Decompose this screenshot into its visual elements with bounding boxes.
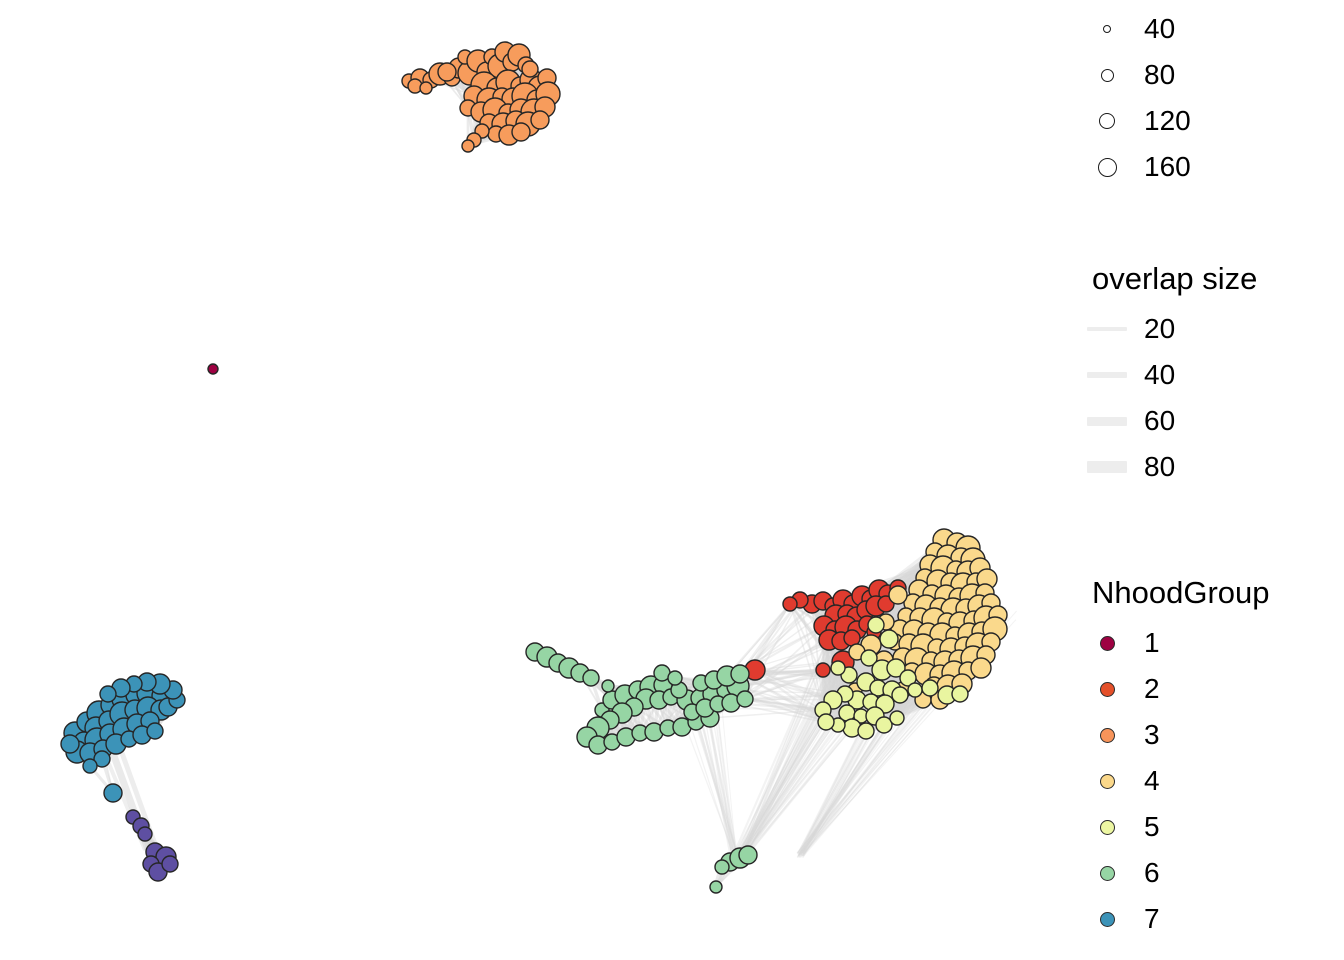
nhoodgroup-legend-label: 7 xyxy=(1144,904,1160,934)
overlap-size-line-icon xyxy=(1080,417,1134,426)
size-legend-label: 160 xyxy=(1144,152,1191,182)
nhood-graph-canvas xyxy=(0,0,1060,960)
graph-node[interactable] xyxy=(438,63,456,81)
nhoodgroup-legend: NhoodGroup 1234567 xyxy=(1080,576,1344,942)
graph-node[interactable] xyxy=(783,597,797,611)
graph-node[interactable] xyxy=(710,881,722,893)
graph-node[interactable] xyxy=(147,723,163,739)
size-legend-label: 120 xyxy=(1144,106,1191,136)
overlap-size-line-icon xyxy=(1080,327,1134,331)
line-segment-icon xyxy=(1087,461,1127,473)
graph-node[interactable] xyxy=(583,670,599,686)
graph-node[interactable] xyxy=(420,82,432,94)
size-legend-circle-icon xyxy=(1080,158,1134,177)
overlap-size-legend-label: 20 xyxy=(1144,314,1175,344)
nhoodgroup-color-swatch xyxy=(1080,682,1134,697)
overlap-size-legend-title: overlap size xyxy=(1092,262,1344,296)
graph-node[interactable] xyxy=(602,680,614,692)
nhoodgroup-legend-label: 1 xyxy=(1144,628,1160,658)
graph-node[interactable] xyxy=(100,686,116,702)
line-segment-icon xyxy=(1087,372,1127,378)
graph-node[interactable] xyxy=(971,658,991,678)
overlap-size-legend-label: 80 xyxy=(1144,452,1175,482)
nhoodgroup-legend-row[interactable]: 5 xyxy=(1080,804,1344,850)
overlap-size-line-icon xyxy=(1080,372,1134,378)
graph-node[interactable] xyxy=(83,759,97,773)
graph-node[interactable] xyxy=(908,683,922,697)
size-legend-row: 40 xyxy=(1080,6,1344,52)
open-circle-icon xyxy=(1098,158,1117,177)
overlap-size-legend-rows: 20406080 xyxy=(1080,306,1344,490)
size-legend-row: 120 xyxy=(1080,98,1344,144)
nhoodgroup-legend-row[interactable]: 6 xyxy=(1080,850,1344,896)
graph-node[interactable] xyxy=(737,691,753,707)
nhoodgroup-legend-row[interactable]: 2 xyxy=(1080,666,1344,712)
graph-node[interactable] xyxy=(818,714,834,730)
size-legend-circle-icon xyxy=(1080,25,1134,33)
filled-circle-icon xyxy=(1100,866,1115,881)
graph-node[interactable] xyxy=(922,680,938,696)
nhoodgroup-legend-row[interactable]: 7 xyxy=(1080,896,1344,942)
line-segment-icon xyxy=(1087,327,1127,331)
nhoodgroup-legend-row[interactable]: 3 xyxy=(1080,712,1344,758)
plot-root: 4080120160 overlap size 20406080 NhoodGr… xyxy=(0,0,1344,960)
filled-circle-icon xyxy=(1100,820,1115,835)
line-segment-icon xyxy=(1087,417,1127,426)
graph-node[interactable] xyxy=(731,665,749,683)
graph-node[interactable] xyxy=(138,827,152,841)
graph-node[interactable] xyxy=(816,663,830,677)
overlap-size-legend-label: 60 xyxy=(1144,406,1175,436)
graph-node[interactable] xyxy=(668,671,682,685)
graph-node[interactable] xyxy=(462,140,474,152)
size-legend-circle-icon xyxy=(1080,69,1134,82)
filled-circle-icon xyxy=(1100,682,1115,697)
filled-circle-icon xyxy=(1100,912,1115,927)
nhoodgroup-color-swatch xyxy=(1080,636,1134,651)
size-legend: 4080120160 xyxy=(1080,6,1344,190)
overlap-size-legend: overlap size 20406080 xyxy=(1080,262,1344,490)
graph-node[interactable] xyxy=(858,723,874,739)
graph-node[interactable] xyxy=(208,364,218,374)
filled-circle-icon xyxy=(1100,728,1115,743)
overlap-size-line-icon xyxy=(1080,461,1134,473)
filled-circle-icon xyxy=(1100,636,1115,651)
graph-node[interactable] xyxy=(531,111,549,129)
open-circle-icon xyxy=(1103,25,1111,33)
overlap-size-legend-row: 80 xyxy=(1080,444,1344,490)
open-circle-icon xyxy=(1099,113,1115,129)
size-legend-row: 80 xyxy=(1080,52,1344,98)
graph-node[interactable] xyxy=(61,735,79,753)
overlap-size-legend-label: 40 xyxy=(1144,360,1175,390)
graph-node[interactable] xyxy=(104,784,122,802)
nhoodgroup-legend-label: 4 xyxy=(1144,766,1160,796)
nhoodgroup-legend-title: NhoodGroup xyxy=(1092,576,1344,610)
nhoodgroup-legend-label: 2 xyxy=(1144,674,1160,704)
size-legend-row: 160 xyxy=(1080,144,1344,190)
nhoodgroup-color-swatch xyxy=(1080,774,1134,789)
nhoodgroup-legend-row[interactable]: 1 xyxy=(1080,620,1344,666)
nhoodgroup-color-swatch xyxy=(1080,728,1134,743)
size-legend-circle-icon xyxy=(1080,113,1134,129)
nhoodgroup-color-swatch xyxy=(1080,820,1134,835)
nhoodgroup-legend-row[interactable]: 4 xyxy=(1080,758,1344,804)
graph-node[interactable] xyxy=(162,856,178,872)
graph-edges-layer xyxy=(70,52,1017,887)
size-legend-label: 80 xyxy=(1144,60,1175,90)
graph-node[interactable] xyxy=(868,617,884,633)
graph-node[interactable] xyxy=(952,686,968,702)
graph-node[interactable] xyxy=(715,860,729,874)
size-legend-label: 40 xyxy=(1144,14,1175,44)
nhoodgroup-legend-label: 3 xyxy=(1144,720,1160,750)
nhoodgroup-legend-label: 6 xyxy=(1144,858,1160,888)
legend-panel: 4080120160 overlap size 20406080 NhoodGr… xyxy=(1080,0,1344,960)
overlap-size-legend-row: 40 xyxy=(1080,352,1344,398)
filled-circle-icon xyxy=(1100,774,1115,789)
graph-node[interactable] xyxy=(739,846,757,864)
graph-node[interactable] xyxy=(892,687,908,703)
nhoodgroup-legend-rows: 1234567 xyxy=(1080,620,1344,942)
overlap-size-legend-row: 60 xyxy=(1080,398,1344,444)
graph-node[interactable] xyxy=(880,630,898,648)
graph-node[interactable] xyxy=(889,586,907,604)
graph-node[interactable] xyxy=(512,123,530,141)
graph-node[interactable] xyxy=(522,61,538,77)
nhoodgroup-color-swatch xyxy=(1080,866,1134,881)
overlap-size-legend-row: 20 xyxy=(1080,306,1344,352)
graph-node[interactable] xyxy=(831,661,845,675)
nhoodgroup-legend-label: 5 xyxy=(1144,812,1160,842)
open-circle-icon xyxy=(1101,69,1114,82)
graph-node[interactable] xyxy=(890,711,904,725)
nhoodgroup-color-swatch xyxy=(1080,912,1134,927)
